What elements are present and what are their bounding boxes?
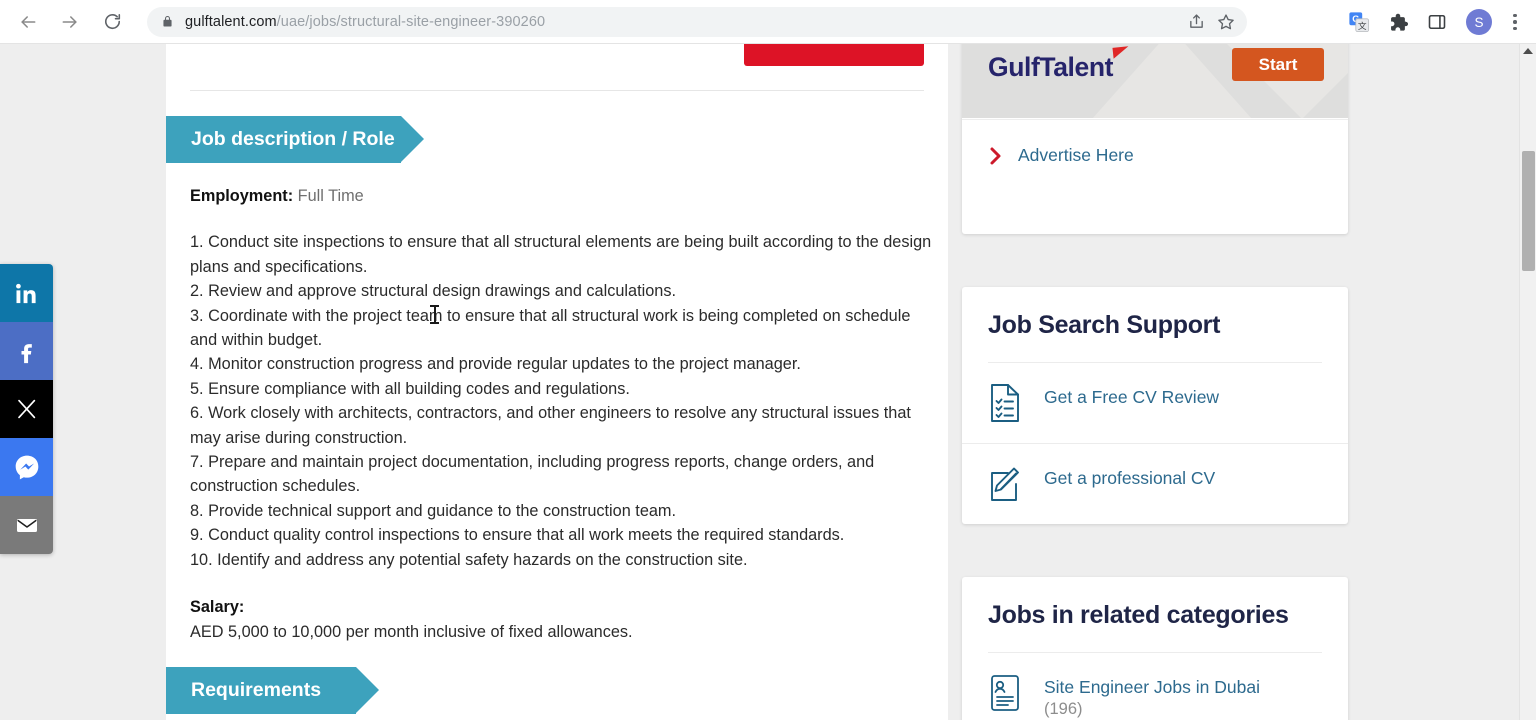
linkedin-icon bbox=[14, 281, 39, 306]
page-scrollbar[interactable] bbox=[1519, 44, 1536, 720]
salary-label: Salary: bbox=[190, 595, 932, 619]
employment-label: Employment: bbox=[190, 187, 293, 205]
gulftalent-swoosh-icon bbox=[1113, 46, 1130, 59]
related-category-row[interactable]: Site Engineer Jobs in Dubai (196) bbox=[962, 653, 1348, 720]
employment-value: Full Time bbox=[298, 187, 364, 205]
salary-value: AED 5,000 to 10,000 per month inclusive … bbox=[190, 620, 932, 644]
duty-item: 2. Review and approve structural design … bbox=[190, 279, 932, 303]
arrow-right-icon bbox=[60, 12, 80, 32]
share-x-button[interactable] bbox=[0, 380, 53, 438]
pencil-square-icon bbox=[988, 464, 1022, 504]
duty-item: 9. Conduct quality control inspections t… bbox=[190, 523, 932, 547]
job-search-support-card: Job Search Support Get a Free CV Review bbox=[962, 287, 1348, 524]
translate-button[interactable]: G 文 bbox=[1344, 7, 1374, 37]
bookmark-button[interactable] bbox=[1213, 9, 1239, 35]
url-path: /uae/jobs/structural-site-engineer-39026… bbox=[277, 14, 545, 30]
duty-item: 7. Prepare and maintain project document… bbox=[190, 450, 932, 499]
kebab-dot bbox=[1513, 27, 1517, 31]
related-categories-card: Jobs in related categories Site Engineer… bbox=[962, 577, 1348, 720]
advertise-here-label: Advertise Here bbox=[1018, 145, 1134, 166]
url-text: gulftalent.com/uae/jobs/structural-site-… bbox=[185, 14, 545, 30]
employment-line: Employment: Full Time bbox=[190, 184, 932, 208]
facebook-icon bbox=[14, 339, 39, 364]
job-search-support-title: Job Search Support bbox=[962, 287, 1348, 340]
kebab-dot bbox=[1513, 14, 1517, 18]
related-category-body: Site Engineer Jobs in Dubai (196) bbox=[1044, 673, 1260, 719]
cv-review-body: Get a Free CV Review bbox=[1044, 383, 1219, 408]
professional-cv-body: Get a professional CV bbox=[1044, 464, 1215, 489]
url-domain: gulftalent.com bbox=[185, 14, 277, 30]
related-category-link[interactable]: Site Engineer Jobs in Dubai bbox=[1044, 676, 1260, 698]
lock-icon bbox=[161, 14, 174, 29]
chevron-right-icon bbox=[988, 146, 1004, 166]
address-bar[interactable]: gulftalent.com/uae/jobs/structural-site-… bbox=[147, 7, 1247, 37]
omnibox-actions bbox=[1183, 7, 1239, 37]
share-linkedin-button[interactable] bbox=[0, 264, 53, 322]
salary-block: Salary: AED 5,000 to 10,000 per month in… bbox=[190, 595, 932, 644]
share-messenger-button[interactable] bbox=[0, 438, 53, 496]
duty-item: 6. Work closely with architects, contrac… bbox=[190, 401, 932, 450]
ad-creative[interactable]: GulfTalent Start bbox=[962, 44, 1348, 118]
profile-avatar[interactable]: S bbox=[1466, 9, 1492, 35]
cv-review-link[interactable]: Get a Free CV Review bbox=[1044, 386, 1219, 408]
x-twitter-icon bbox=[15, 397, 39, 421]
duty-item: 5. Ensure compliance with all building c… bbox=[190, 377, 932, 401]
extensions-puzzle-icon bbox=[1388, 12, 1409, 33]
share-facebook-button[interactable] bbox=[0, 322, 53, 380]
professional-cv-row[interactable]: Get a professional CV bbox=[962, 443, 1348, 524]
duty-item: 4. Monitor construction progress and pro… bbox=[190, 352, 932, 376]
page-viewport: Job description / Role Employment: Full … bbox=[0, 44, 1536, 720]
requirements-banner-label: Requirements bbox=[191, 679, 321, 702]
related-categories-title: Jobs in related categories bbox=[962, 577, 1348, 630]
browser-menu-button[interactable] bbox=[1502, 7, 1528, 37]
envelope-icon bbox=[12, 510, 42, 540]
job-detail-card: Job description / Role Employment: Full … bbox=[166, 44, 948, 720]
reload-button[interactable] bbox=[95, 5, 129, 39]
requirements-banner: Requirements bbox=[166, 667, 356, 714]
document-checklist-icon bbox=[988, 383, 1022, 423]
job-description-body: Employment: Full Time 1. Conduct site in… bbox=[190, 184, 932, 644]
duty-item: 10. Identify and address any potential s… bbox=[190, 548, 932, 572]
arrow-left-icon bbox=[18, 12, 38, 32]
messenger-icon bbox=[13, 453, 41, 481]
svg-text:文: 文 bbox=[1358, 20, 1367, 31]
advertise-here-row[interactable]: Advertise Here bbox=[962, 119, 1348, 188]
apply-now-button[interactable] bbox=[744, 44, 924, 66]
reload-icon bbox=[103, 12, 122, 31]
back-button[interactable] bbox=[11, 5, 45, 39]
toolbar-actions: G 文 S bbox=[1335, 0, 1536, 44]
duty-item: 8. Provide technical support and guidanc… bbox=[190, 499, 932, 523]
gulftalent-logo: GulfTalent bbox=[988, 52, 1113, 83]
share-button[interactable] bbox=[1183, 9, 1209, 35]
forward-button[interactable] bbox=[53, 5, 87, 39]
professional-cv-link[interactable]: Get a professional CV bbox=[1044, 467, 1215, 489]
scroll-up-arrow-icon[interactable] bbox=[1523, 48, 1533, 54]
extensions-button[interactable] bbox=[1383, 7, 1413, 37]
duties-list: 1. Conduct site inspections to ensure th… bbox=[190, 230, 932, 572]
cv-profile-icon bbox=[988, 673, 1022, 713]
job-description-banner-label: Job description / Role bbox=[191, 128, 395, 151]
job-description-banner: Job description / Role bbox=[166, 116, 401, 163]
side-panel-icon bbox=[1427, 12, 1447, 32]
gulftalent-logo-text: GulfTalent bbox=[988, 52, 1113, 82]
ad-start-button[interactable]: Start bbox=[1232, 48, 1324, 81]
browser-toolbar: gulftalent.com/uae/jobs/structural-site-… bbox=[0, 0, 1536, 44]
content-divider bbox=[190, 90, 924, 91]
related-category-count: (196) bbox=[1044, 700, 1260, 719]
share-email-button[interactable] bbox=[0, 496, 53, 554]
cv-review-row[interactable]: Get a Free CV Review bbox=[962, 363, 1348, 443]
bookmark-star-icon bbox=[1217, 13, 1235, 31]
share-icon bbox=[1188, 13, 1205, 30]
side-panel-button[interactable] bbox=[1422, 7, 1452, 37]
scrollbar-thumb[interactable] bbox=[1522, 151, 1535, 271]
translate-icon: G 文 bbox=[1348, 11, 1370, 33]
kebab-dot bbox=[1513, 20, 1517, 24]
duty-item: 3. Coordinate with the project team to e… bbox=[190, 304, 932, 353]
duty-item: 1. Conduct site inspections to ensure th… bbox=[190, 230, 932, 279]
social-share-rail bbox=[0, 264, 53, 554]
advertisement-card: GulfTalent Start Advertise Here bbox=[962, 44, 1348, 234]
